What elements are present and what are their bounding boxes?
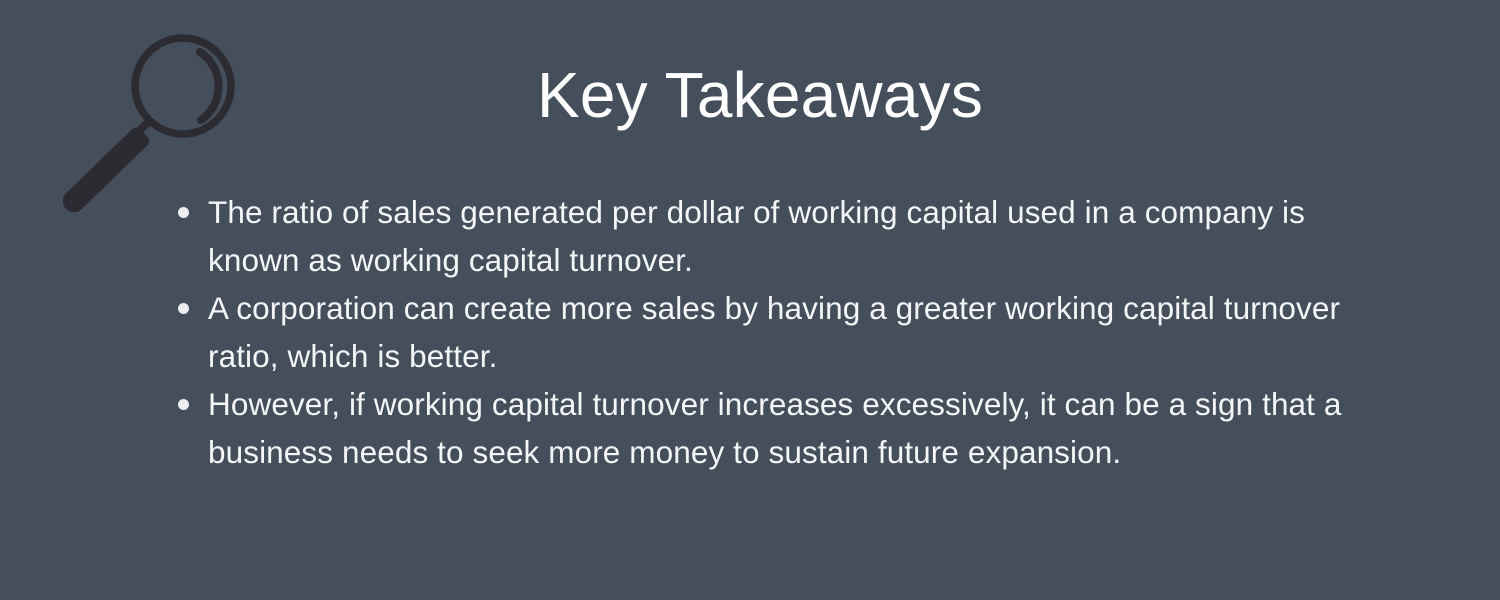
- list-item: The ratio of sales generated per dollar …: [170, 188, 1400, 284]
- list-item: However, if working capital turnover inc…: [170, 380, 1400, 476]
- list-item: A corporation can create more sales by h…: [170, 284, 1400, 380]
- list-item-text: The ratio of sales generated per dollar …: [208, 188, 1400, 284]
- list-item-text: A corporation can create more sales by h…: [208, 284, 1400, 380]
- page-title: Key Takeaways: [260, 56, 1260, 134]
- list-item-text: However, if working capital turnover inc…: [208, 380, 1400, 476]
- key-takeaways-slide: Key Takeaways The ratio of sales generat…: [0, 0, 1500, 600]
- takeaways-list: The ratio of sales generated per dollar …: [170, 188, 1400, 476]
- bullet-icon: [178, 207, 189, 218]
- bullet-icon: [178, 303, 189, 314]
- bullet-icon: [178, 399, 189, 410]
